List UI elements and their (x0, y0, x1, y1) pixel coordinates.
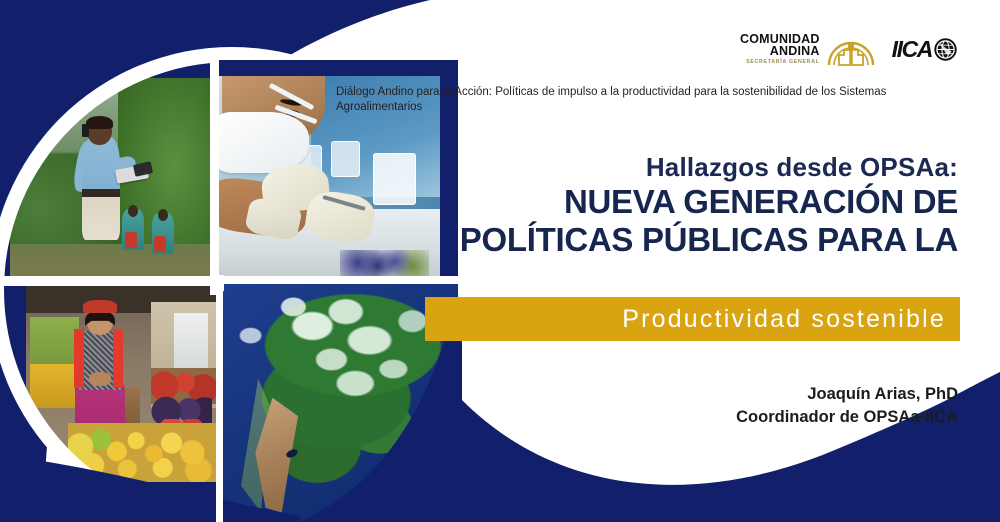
title-line-2: POLÍTICAS PÚBLICAS PARA LA (318, 221, 958, 259)
event-subtitle: Diálogo Andino para la Acción: Políticas… (336, 85, 956, 115)
presentation-slide: COMUNIDAD ANDINA SECRETARÍA GENERAL IICA (0, 0, 1000, 522)
logo-bar: COMUNIDAD ANDINA SECRETARÍA GENERAL IICA (740, 31, 958, 67)
highlight-bar: Productividad sostenible (425, 297, 960, 341)
title-eyebrow: Hallazgos desde OPSAa: (318, 152, 958, 183)
iica-wordmark: IICA (892, 36, 932, 63)
inca-arch-icon (827, 31, 875, 67)
title-block: Hallazgos desde OPSAa: NUEVA GENERACIÓN … (318, 152, 958, 259)
photo-market-vendor-fruit (26, 286, 216, 482)
tile-gutter-horizontal-left (0, 276, 218, 286)
globe-icon (933, 37, 958, 62)
highlight-text: Productividad sostenible (622, 305, 960, 334)
title-line-1: NUEVA GENERACIÓN DE (318, 183, 958, 221)
comunidad-andina-logo: COMUNIDAD ANDINA SECRETARÍA GENERAL (740, 31, 875, 67)
comunidad-andina-line3: SECRETARÍA GENERAL (740, 60, 820, 65)
author-name: Joaquín Arias, PhD (736, 383, 958, 406)
iica-logo: IICA (892, 36, 958, 63)
comunidad-andina-line2: ANDINA (740, 45, 820, 58)
photo-farmer-phone-coffee-field (10, 78, 210, 276)
author-credit: Joaquín Arias, PhD Coordinador de OPSAa-… (736, 383, 958, 429)
author-role: Coordinador de OPSAa-IICA (736, 406, 958, 429)
